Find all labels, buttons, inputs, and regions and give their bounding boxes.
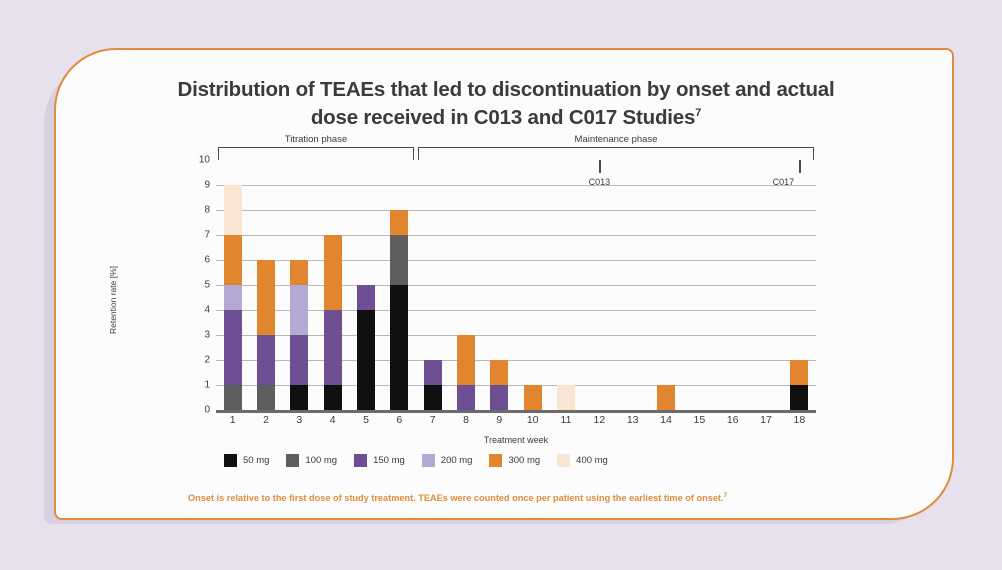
phase-annotations: Titration phaseMaintenance phaseC013C017 <box>216 110 816 160</box>
footnote-superscript: 7 <box>724 492 728 499</box>
bar-segment-300-mg <box>490 360 508 385</box>
bar-segment-100-mg <box>257 385 275 410</box>
bar-week-8 <box>457 160 475 410</box>
footnote-text: Onset is relative to the first dose of s… <box>188 493 724 503</box>
bar-segment-300-mg <box>224 235 242 285</box>
bar-week-9 <box>490 160 508 410</box>
x-axis-tick-7: 7 <box>430 414 436 426</box>
plot-area: Retention rate [%] 012345678910 12345678… <box>56 50 956 522</box>
bar-segment-150-mg <box>357 285 375 310</box>
bar-segment-150-mg <box>490 385 508 410</box>
y-axis-tick-labels: 012345678910 <box>186 160 210 410</box>
screenshot-root: Distribution of TEAEs that led to discon… <box>0 0 1002 570</box>
x-axis-tick-18: 18 <box>793 414 805 426</box>
bar-week-3 <box>290 160 308 410</box>
bar-segment-150-mg <box>290 335 308 385</box>
legend-label: 200 mg <box>441 455 473 466</box>
y-axis-tick-6: 6 <box>186 255 210 266</box>
bar-week-13 <box>624 160 642 410</box>
bar-segment-100-mg <box>224 385 242 410</box>
legend-label: 150 mg <box>373 455 405 466</box>
legend-swatch-icon <box>422 454 435 467</box>
bar-segment-50-mg <box>390 285 408 410</box>
x-axis-tick-8: 8 <box>463 414 469 426</box>
y-axis-tick-0: 0 <box>186 405 210 416</box>
bar-segment-50-mg <box>324 385 342 410</box>
bar-segment-150-mg <box>257 335 275 385</box>
bar-segment-150-mg <box>457 385 475 410</box>
legend-item-50-mg[interactable]: 50 mg <box>224 454 269 467</box>
bar-week-5 <box>357 160 375 410</box>
bar-segment-200-mg <box>224 285 242 310</box>
gridline-0 <box>216 410 816 413</box>
legend-label: 50 mg <box>243 455 269 466</box>
legend-swatch-icon <box>354 454 367 467</box>
chart-card: Distribution of TEAEs that led to discon… <box>54 48 954 520</box>
x-axis-tick-13: 13 <box>627 414 639 426</box>
study-tick-c013 <box>599 160 601 173</box>
study-label-c017: C017 <box>773 177 795 187</box>
phase-label-titration: Titration phase <box>285 134 348 145</box>
x-axis-tick-14: 14 <box>660 414 672 426</box>
bar-segment-300-mg <box>290 260 308 285</box>
bar-week-10 <box>524 160 542 410</box>
y-axis-tick-3: 3 <box>186 330 210 341</box>
phase-bracket-titration <box>218 147 414 160</box>
bar-week-15 <box>690 160 708 410</box>
bar-week-2 <box>257 160 275 410</box>
bar-segment-150-mg <box>324 310 342 385</box>
phase-bracket-maintenance <box>418 147 814 160</box>
bar-segment-150-mg <box>424 360 442 385</box>
legend-item-400-mg[interactable]: 400 mg <box>557 454 608 467</box>
bar-series-group <box>216 160 816 410</box>
bar-segment-100-mg <box>390 235 408 285</box>
bar-week-16 <box>724 160 742 410</box>
bar-segment-300-mg <box>657 385 675 410</box>
x-axis-tick-5: 5 <box>363 414 369 426</box>
x-axis-tick-11: 11 <box>561 414 572 426</box>
bar-week-18 <box>790 160 808 410</box>
x-axis-tick-3: 3 <box>296 414 302 426</box>
bar-segment-400-mg <box>224 185 242 235</box>
x-axis-tick-10: 10 <box>527 414 539 426</box>
bar-segment-400-mg <box>557 385 575 410</box>
legend-swatch-icon <box>286 454 299 467</box>
y-axis-tick-2: 2 <box>186 355 210 366</box>
y-axis-tick-4: 4 <box>186 305 210 316</box>
bar-segment-150-mg <box>224 310 242 385</box>
y-axis-tick-1: 1 <box>186 380 210 391</box>
legend-item-150-mg[interactable]: 150 mg <box>354 454 405 467</box>
x-axis-tick-2: 2 <box>263 414 269 426</box>
x-axis-title: Treatment week <box>216 435 816 445</box>
x-axis-tick-12: 12 <box>593 414 605 426</box>
bar-week-6 <box>390 160 408 410</box>
y-axis-title: Retention rate [%] <box>108 225 118 375</box>
phase-label-maintenance: Maintenance phase <box>575 134 658 145</box>
legend-swatch-icon <box>557 454 570 467</box>
chart-legend: 50 mg100 mg150 mg200 mg300 mg400 mg <box>224 454 608 467</box>
bar-segment-300-mg <box>790 360 808 385</box>
legend-label: 100 mg <box>305 455 337 466</box>
legend-label: 300 mg <box>508 455 540 466</box>
bar-segment-300-mg <box>457 335 475 385</box>
legend-item-100-mg[interactable]: 100 mg <box>286 454 337 467</box>
bar-segment-50-mg <box>424 385 442 410</box>
bar-segment-50-mg <box>790 385 808 410</box>
bar-segment-200-mg <box>290 285 308 335</box>
y-axis-tick-7: 7 <box>186 230 210 241</box>
legend-swatch-icon <box>489 454 502 467</box>
x-axis-tick-15: 15 <box>693 414 705 426</box>
footnote: Onset is relative to the first dose of s… <box>188 492 888 503</box>
x-axis-tick-16: 16 <box>727 414 739 426</box>
x-axis-tick-6: 6 <box>396 414 402 426</box>
bar-week-7 <box>424 160 442 410</box>
y-axis-tick-8: 8 <box>186 205 210 216</box>
bar-week-17 <box>757 160 775 410</box>
legend-item-200-mg[interactable]: 200 mg <box>422 454 473 467</box>
bar-segment-300-mg <box>324 235 342 310</box>
bar-week-12 <box>590 160 608 410</box>
legend-item-300-mg[interactable]: 300 mg <box>489 454 540 467</box>
study-tick-c017 <box>799 160 801 173</box>
legend-label: 400 mg <box>576 455 608 466</box>
x-axis-tick-1: 1 <box>230 414 236 426</box>
x-axis-tick-9: 9 <box>496 414 502 426</box>
bar-week-1 <box>224 160 242 410</box>
y-axis-tick-9: 9 <box>186 180 210 191</box>
study-label-c013: C013 <box>589 177 611 187</box>
bar-segment-300-mg <box>390 210 408 235</box>
x-axis-tick-4: 4 <box>330 414 336 426</box>
bar-segment-300-mg <box>524 385 542 410</box>
bar-week-4 <box>324 160 342 410</box>
legend-swatch-icon <box>224 454 237 467</box>
bar-week-14 <box>657 160 675 410</box>
y-axis-tick-10: 10 <box>186 155 210 166</box>
x-axis-tick-17: 17 <box>760 414 772 426</box>
bar-segment-300-mg <box>257 260 275 335</box>
y-axis-tick-5: 5 <box>186 280 210 291</box>
bar-week-11 <box>557 160 575 410</box>
bar-segment-50-mg <box>357 310 375 410</box>
bar-segment-50-mg <box>290 385 308 410</box>
